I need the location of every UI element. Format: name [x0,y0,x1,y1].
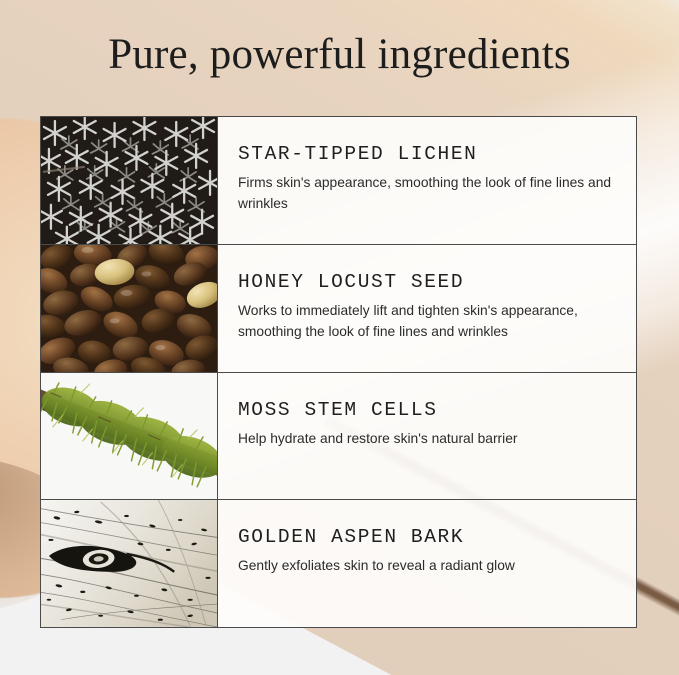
ingredient-text-cell: GOLDEN ASPEN BARK Gently exfoliates skin… [218,500,636,627]
ingredient-text-cell: STAR-TIPPED LICHEN Firms skin's appearan… [218,117,636,244]
table-row: GOLDEN ASPEN BARK Gently exfoliates skin… [41,500,636,627]
ingredients-table: STAR-TIPPED LICHEN Firms skin's appearan… [40,116,637,628]
lichen-artwork [41,117,217,244]
ingredient-text-cell: MOSS STEM CELLS Help hydrate and restore… [218,373,636,500]
ingredients-infographic: Pure, powerful ingredients [0,0,679,675]
honey-locust-seed-photo [41,245,218,372]
ingredient-text-cell: HONEY LOCUST SEED Works to immediately l… [218,245,636,372]
golden-aspen-bark-photo [41,500,218,627]
ingredient-name: MOSS STEM CELLS [238,399,614,421]
moss-artwork [41,373,217,500]
ingredient-description: Works to immediately lift and tighten sk… [238,300,613,342]
table-row: STAR-TIPPED LICHEN Firms skin's appearan… [41,117,636,245]
ingredient-name: GOLDEN ASPEN BARK [238,526,614,548]
moss-stem-cells-photo [41,373,218,500]
table-row: HONEY LOCUST SEED Works to immediately l… [41,245,636,373]
table-row: MOSS STEM CELLS Help hydrate and restore… [41,373,636,501]
ingredient-name: STAR-TIPPED LICHEN [238,143,614,165]
ingredient-name: HONEY LOCUST SEED [238,271,614,293]
ingredient-description: Firms skin's appearance, smoothing the l… [238,172,613,214]
bark-artwork [41,500,217,627]
ingredient-description: Help hydrate and restore skin's natural … [238,428,613,449]
page-title: Pure, powerful ingredients [0,27,679,83]
seeds-artwork [41,245,217,372]
star-tipped-lichen-photo [41,117,218,244]
ingredient-description: Gently exfoliates skin to reveal a radia… [238,555,613,576]
